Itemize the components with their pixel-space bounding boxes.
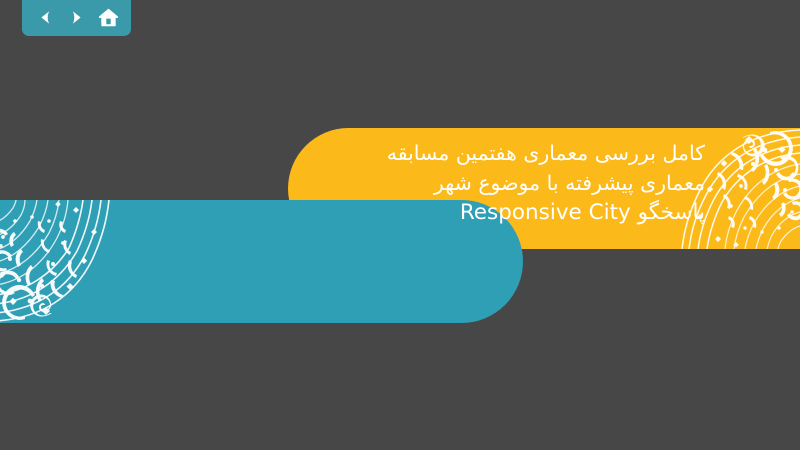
home-button[interactable] — [96, 5, 120, 29]
slide-canvas: کامل بررسی معماری هفتمین مسابقه معماری پ… — [0, 0, 800, 450]
back-triangle-icon — [36, 8, 55, 27]
home-icon — [98, 7, 119, 28]
arabesque-corner-ornament — [0, 200, 156, 323]
forward-triangle-icon — [67, 8, 86, 27]
teal-banner-panel — [0, 200, 523, 323]
back-button[interactable] — [33, 5, 57, 29]
navigation-bar — [22, 0, 131, 36]
arabesque-corner-ornament — [632, 128, 800, 249]
forward-button[interactable] — [65, 5, 89, 29]
